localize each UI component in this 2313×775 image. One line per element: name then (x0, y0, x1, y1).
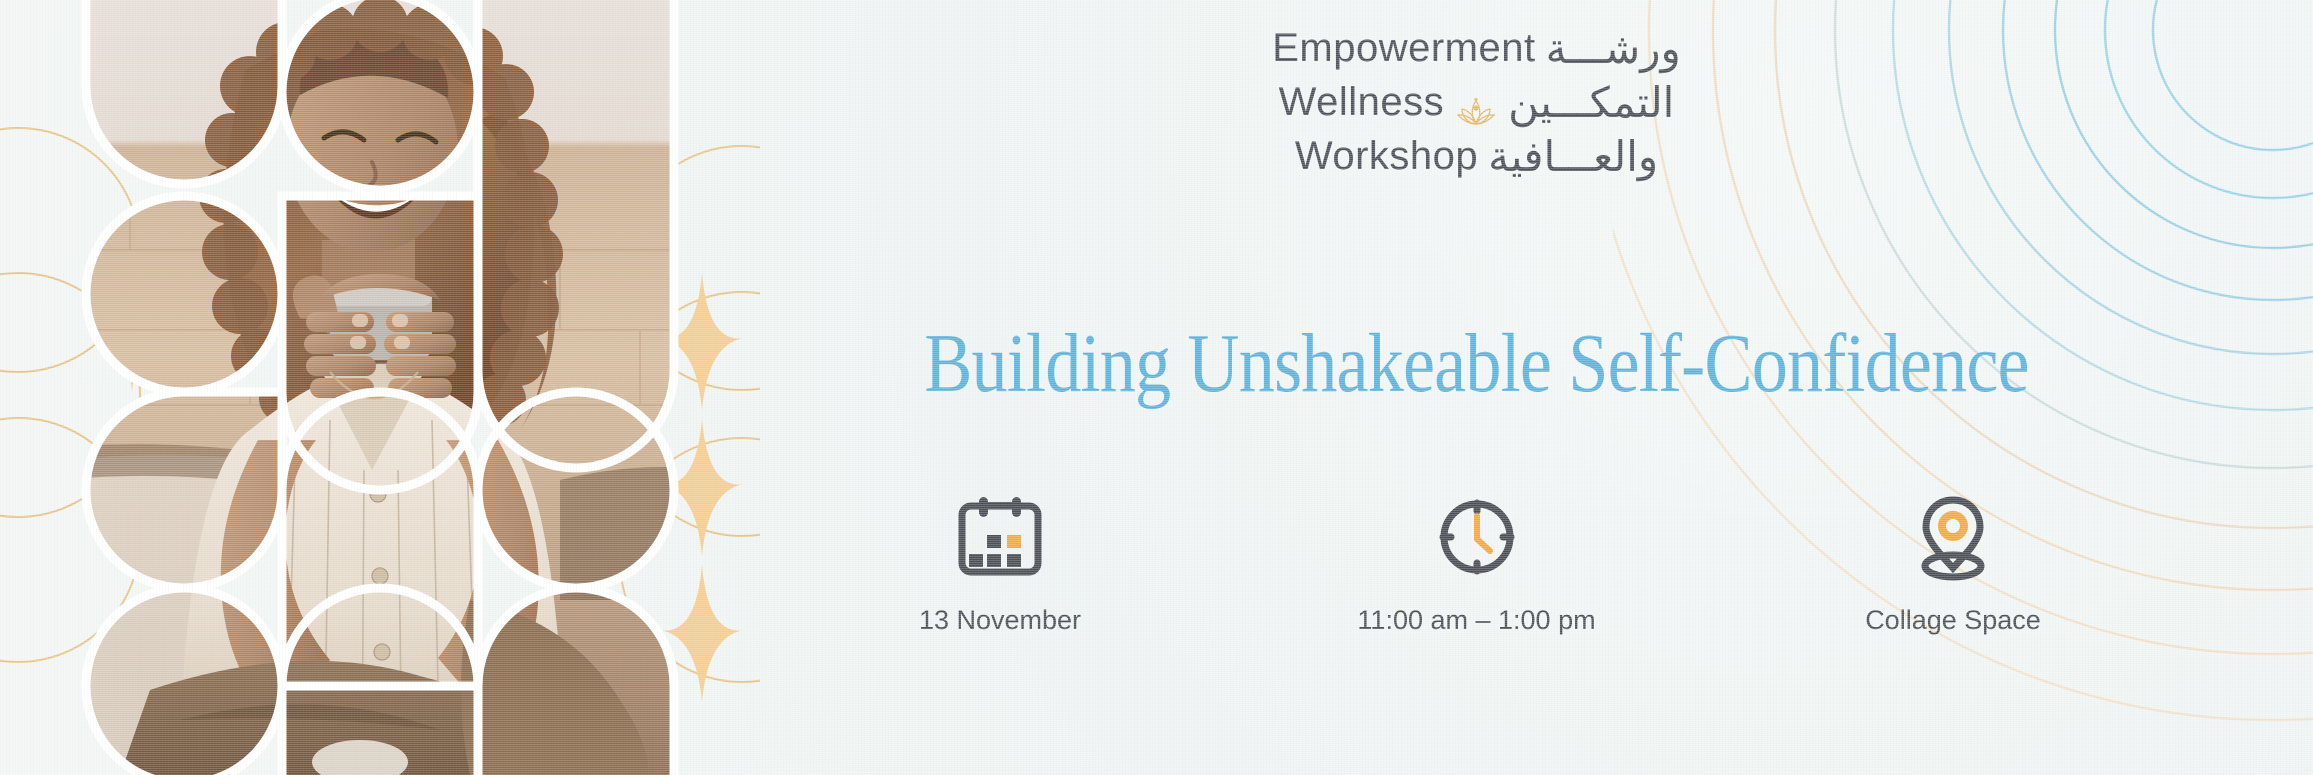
logo-arabic-1: ورشـــة (1546, 22, 1681, 76)
page-title: Building Unshakeable Self-Confidence (860, 322, 2092, 406)
logo-latin-1: Empowerment (1272, 23, 1535, 74)
location-pin-icon (1910, 495, 1996, 579)
event-banner: Empowerment ورشـــة Wellness (0, 0, 2313, 775)
event-time-label: 11:00 am – 1:00 pm (1357, 605, 1595, 636)
logo-latin-2: Wellness (1279, 77, 1445, 128)
event-date-label: 13 November (919, 605, 1081, 636)
event-detail-date: 13 November (850, 495, 1150, 636)
photo-collage (0, 0, 760, 775)
logo-line-2: Wellness التمكـــين (760, 76, 2193, 130)
logo-line-1: Empowerment ورشـــة (760, 22, 2193, 76)
brand-lockup: Empowerment ورشـــة Wellness (760, 22, 2193, 183)
event-details-row: 13 November (850, 495, 2103, 636)
event-detail-time: 11:00 am – 1:00 pm (1327, 495, 1627, 636)
lotus-flower-icon (1454, 88, 1498, 118)
content-column: Empowerment ورشـــة Wellness (760, 0, 2313, 775)
logo-arabic-2: التمكـــين (1508, 76, 1674, 130)
logo-latin-3: Workshop (1295, 131, 1478, 182)
logo-line-3: Workshop والعـــافية (760, 130, 2193, 184)
calendar-icon (955, 495, 1045, 579)
event-location-label: Collage Space (1865, 605, 2041, 636)
clock-icon (1434, 495, 1520, 579)
logo-arabic-3: والعـــافية (1488, 130, 1658, 184)
event-detail-location: Collage Space (1803, 495, 2103, 636)
